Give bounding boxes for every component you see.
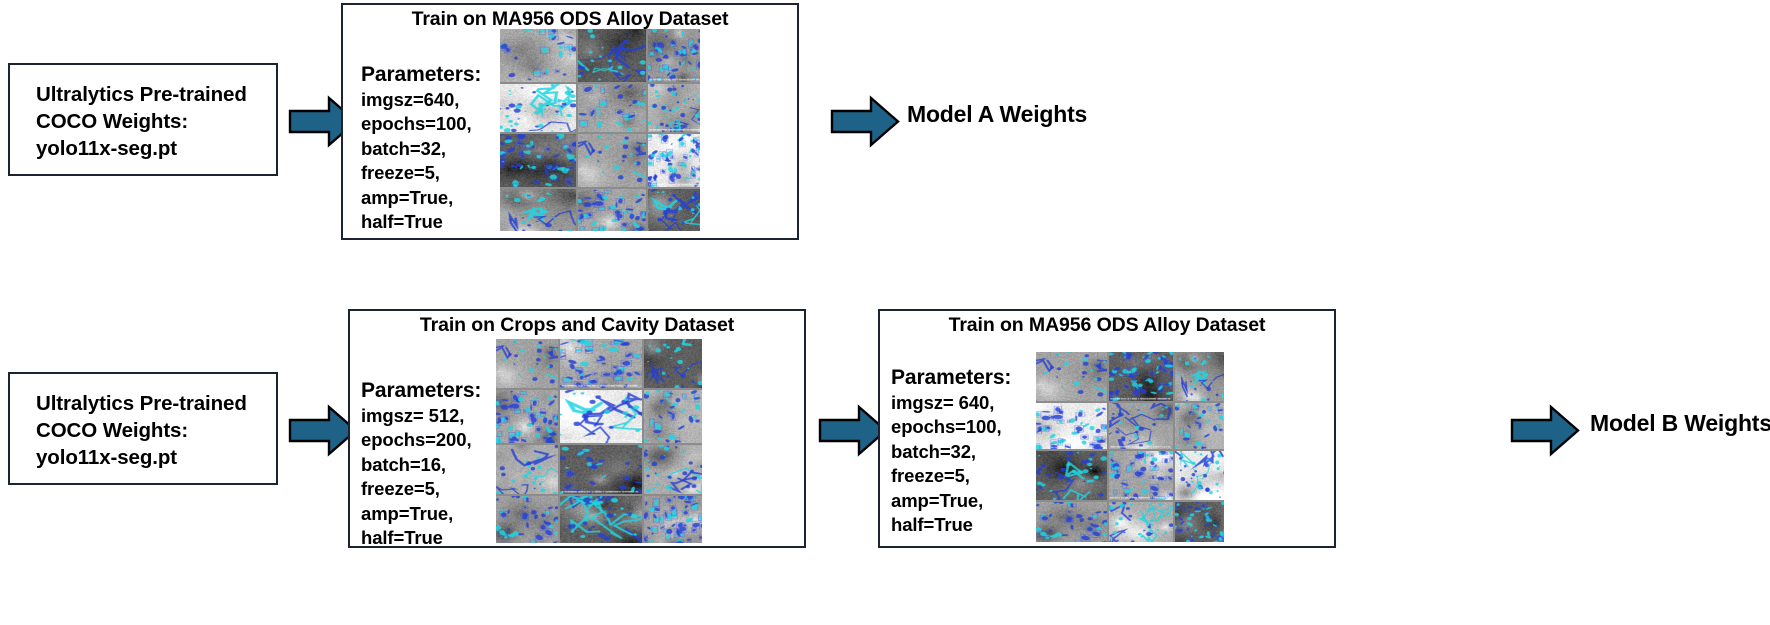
- montage-tile: [500, 29, 576, 82]
- montage-tile: [578, 189, 646, 232]
- montage-tile: [500, 84, 576, 132]
- montage-tile: [560, 339, 642, 388]
- montage-tile: [1036, 352, 1107, 401]
- param-freeze: freeze=5,: [361, 161, 481, 186]
- montage-tile: [648, 29, 700, 82]
- montage-tile: [1175, 403, 1224, 449]
- param-amp: amp=True,: [361, 186, 481, 211]
- param-epochs: epochs=100,: [891, 415, 1011, 440]
- source-line-2: COCO Weights:: [36, 417, 276, 444]
- source-weights-box-a: Ultralytics Pre-trained COCO Weights: yo…: [8, 63, 278, 176]
- montage-tile: [560, 390, 642, 443]
- train-params-b2: Parameters: imgsz= 640, epochs=100, batc…: [891, 366, 1011, 538]
- param-batch: batch=16,: [361, 453, 481, 478]
- montage-tile: [644, 390, 702, 443]
- train-title-b1: Train on Crops and Cavity Dataset: [348, 314, 806, 337]
- param-freeze: freeze=5,: [891, 464, 1011, 489]
- param-amp: amp=True,: [361, 502, 481, 527]
- montage-tile: [560, 445, 642, 494]
- param-batch: batch=32,: [361, 137, 481, 162]
- param-amp: amp=True,: [891, 489, 1011, 514]
- dataset-montage-a: [500, 29, 700, 231]
- montage-tile: [578, 134, 646, 187]
- montage-tile: [1109, 451, 1173, 500]
- param-half: half=True: [361, 210, 481, 235]
- train-title-a: Train on MA956 ODS Alloy Dataset: [341, 8, 799, 31]
- dataset-montage-b2: [1036, 352, 1224, 542]
- param-epochs: epochs=100,: [361, 112, 481, 137]
- montage-tile: [578, 29, 646, 82]
- params-heading: Parameters:: [891, 366, 1011, 391]
- montage-tile: [1036, 403, 1107, 449]
- montage-tile: [500, 134, 576, 187]
- arrow-train-to-output-a: [830, 95, 900, 148]
- param-half: half=True: [891, 513, 1011, 538]
- train-params-a: Parameters: imgsz=640, epochs=100, batch…: [361, 63, 481, 235]
- source-line-1: Ultralytics Pre-trained: [36, 390, 276, 417]
- montage-tile: [560, 496, 642, 543]
- source-line-3: yolo11x-seg.pt: [36, 135, 276, 162]
- dataset-montage-b1: [496, 339, 702, 543]
- source-line-2: COCO Weights:: [36, 108, 276, 135]
- montage-tile: [644, 339, 702, 388]
- montage-tile: [496, 339, 558, 388]
- train-params-b1: Parameters: imgsz= 512, epochs=200, batc…: [361, 379, 481, 551]
- param-half: half=True: [361, 526, 481, 551]
- montage-tile: [644, 496, 702, 543]
- montage-tile: [1175, 451, 1224, 500]
- montage-tile: [648, 84, 700, 132]
- source-line-3: yolo11x-seg.pt: [36, 444, 276, 471]
- montage-tile: [648, 134, 700, 187]
- montage-tile: [1036, 451, 1107, 500]
- montage-tile: [1036, 502, 1107, 542]
- montage-tile: [1109, 403, 1173, 449]
- train-title-b2: Train on MA956 ODS Alloy Dataset: [878, 314, 1336, 337]
- montage-tile: [644, 445, 702, 494]
- arrow-train-to-output-b: [1510, 404, 1580, 457]
- montage-tile: [500, 189, 576, 232]
- model-b-weights-label: Model B Weights: [1590, 410, 1770, 437]
- montage-tile: [578, 84, 646, 132]
- montage-tile: [1175, 352, 1224, 401]
- param-imgsz: imgsz=640,: [361, 88, 481, 113]
- param-imgsz: imgsz= 512,: [361, 404, 481, 429]
- param-batch: batch=32,: [891, 440, 1011, 465]
- params-heading: Parameters:: [361, 63, 481, 88]
- montage-tile: [648, 189, 700, 232]
- montage-tile: [1175, 502, 1224, 542]
- param-freeze: freeze=5,: [361, 477, 481, 502]
- params-heading: Parameters:: [361, 379, 481, 404]
- param-epochs: epochs=200,: [361, 428, 481, 453]
- montage-tile: [496, 445, 558, 494]
- source-line-1: Ultralytics Pre-trained: [36, 81, 276, 108]
- montage-tile: [1109, 502, 1173, 542]
- montage-tile: [496, 496, 558, 543]
- montage-tile: [496, 390, 558, 443]
- model-a-weights-label: Model A Weights: [907, 101, 1087, 128]
- source-weights-box-b: Ultralytics Pre-trained COCO Weights: yo…: [8, 372, 278, 485]
- montage-tile: [1109, 352, 1173, 401]
- param-imgsz: imgsz= 640,: [891, 391, 1011, 416]
